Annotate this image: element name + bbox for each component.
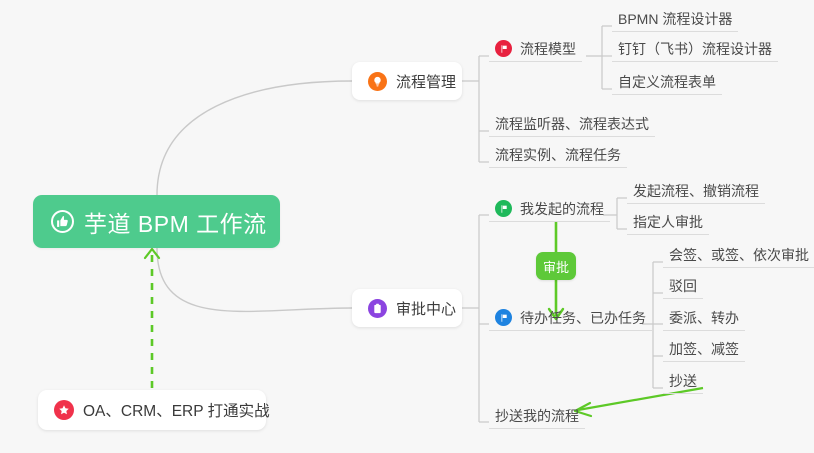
node-approval-center[interactable]: 审批中心: [352, 289, 462, 327]
node-flow-listener-expression-label: 流程监听器、流程表达式: [495, 116, 649, 132]
thumbs-up-icon: [51, 210, 74, 233]
flag-icon: [495, 40, 512, 57]
node-flow-instance-task[interactable]: 流程实例、流程任务: [489, 142, 627, 168]
node-countersign-or-sequential-label: 会签、或签、依次审批: [669, 247, 809, 263]
node-add-remove-sign[interactable]: 加签、减签: [663, 336, 745, 362]
node-flow-model-label: 流程模型: [520, 41, 576, 57]
node-flow-listener-expression[interactable]: 流程监听器、流程表达式: [489, 111, 655, 137]
node-assignee-approval-label: 指定人审批: [633, 214, 703, 230]
node-custom-flow-form-label: 自定义流程表单: [618, 74, 716, 90]
node-bpmn-designer[interactable]: BPMN 流程设计器: [612, 6, 738, 32]
flag-icon: [495, 200, 512, 217]
node-bpmn-designer-label: BPMN 流程设计器: [618, 11, 732, 27]
link-root-to-flow-management: [157, 81, 352, 195]
node-countersign-or-sequential[interactable]: 会签、或签、依次审批: [663, 242, 814, 268]
node-flow-instance-task-label: 流程实例、流程任务: [495, 147, 621, 163]
node-delegate-transfer-label: 委派、转办: [669, 310, 739, 326]
lightbulb-icon: [368, 72, 387, 91]
node-reject-label: 驳回: [669, 278, 697, 294]
node-integration-label: OA、CRM、ERP 打通实战: [83, 399, 270, 421]
node-delegate-transfer[interactable]: 委派、转办: [663, 305, 745, 331]
node-assignee-approval[interactable]: 指定人审批: [627, 209, 709, 235]
node-integration[interactable]: OA、CRM、ERP 打通实战: [38, 390, 266, 430]
node-my-initiated-flows[interactable]: 我发起的流程: [489, 196, 610, 222]
node-my-initiated-flows-label: 我发起的流程: [520, 201, 604, 217]
node-start-cancel-flow[interactable]: 发起流程、撤销流程: [627, 178, 765, 204]
node-custom-flow-form[interactable]: 自定义流程表单: [612, 69, 722, 95]
node-cc-my-flows-label: 抄送我的流程: [495, 408, 579, 424]
node-dingtalk-feishu-designer-label: 钉钉（飞书）流程设计器: [618, 41, 772, 57]
link-root-to-approval-center: [157, 248, 352, 311]
clipboard-icon: [368, 299, 387, 318]
arrowhead-integration-to-root: [145, 249, 159, 258]
annotation-approve-chip-label: 审批: [543, 257, 569, 276]
link-flow-management-spine: [462, 56, 479, 162]
node-flow-management[interactable]: 流程管理: [352, 62, 462, 100]
node-todo-done-tasks[interactable]: 待办任务、已办任务: [489, 305, 652, 331]
root-label: 芋道 BPM 工作流: [84, 205, 267, 239]
node-approval-center-label: 审批中心: [396, 298, 456, 319]
node-carbon-copy-label: 抄送: [669, 373, 697, 389]
node-dingtalk-feishu-designer[interactable]: 钉钉（飞书）流程设计器: [612, 36, 778, 62]
mindmap-canvas: 芋道 BPM 工作流 流程管理 流程模型 BPMN 流程设计器 钉钉（飞书）流程…: [0, 0, 814, 453]
node-flow-model[interactable]: 流程模型: [489, 36, 582, 62]
annotation-approve-chip: 审批: [536, 252, 576, 280]
node-carbon-copy[interactable]: 抄送: [663, 368, 703, 394]
node-todo-done-tasks-label: 待办任务、已办任务: [520, 310, 646, 326]
root-node[interactable]: 芋道 BPM 工作流: [33, 195, 280, 248]
node-flow-management-label: 流程管理: [396, 71, 456, 92]
node-add-remove-sign-label: 加签、减签: [669, 341, 739, 357]
node-start-cancel-flow-label: 发起流程、撤销流程: [633, 183, 759, 199]
star-icon: [54, 400, 74, 420]
node-reject[interactable]: 驳回: [663, 273, 703, 299]
node-cc-my-flows[interactable]: 抄送我的流程: [489, 403, 585, 429]
link-flow-model-spine: [586, 26, 602, 89]
link-approval-center-spine: [462, 215, 479, 422]
flag-icon: [495, 309, 512, 326]
